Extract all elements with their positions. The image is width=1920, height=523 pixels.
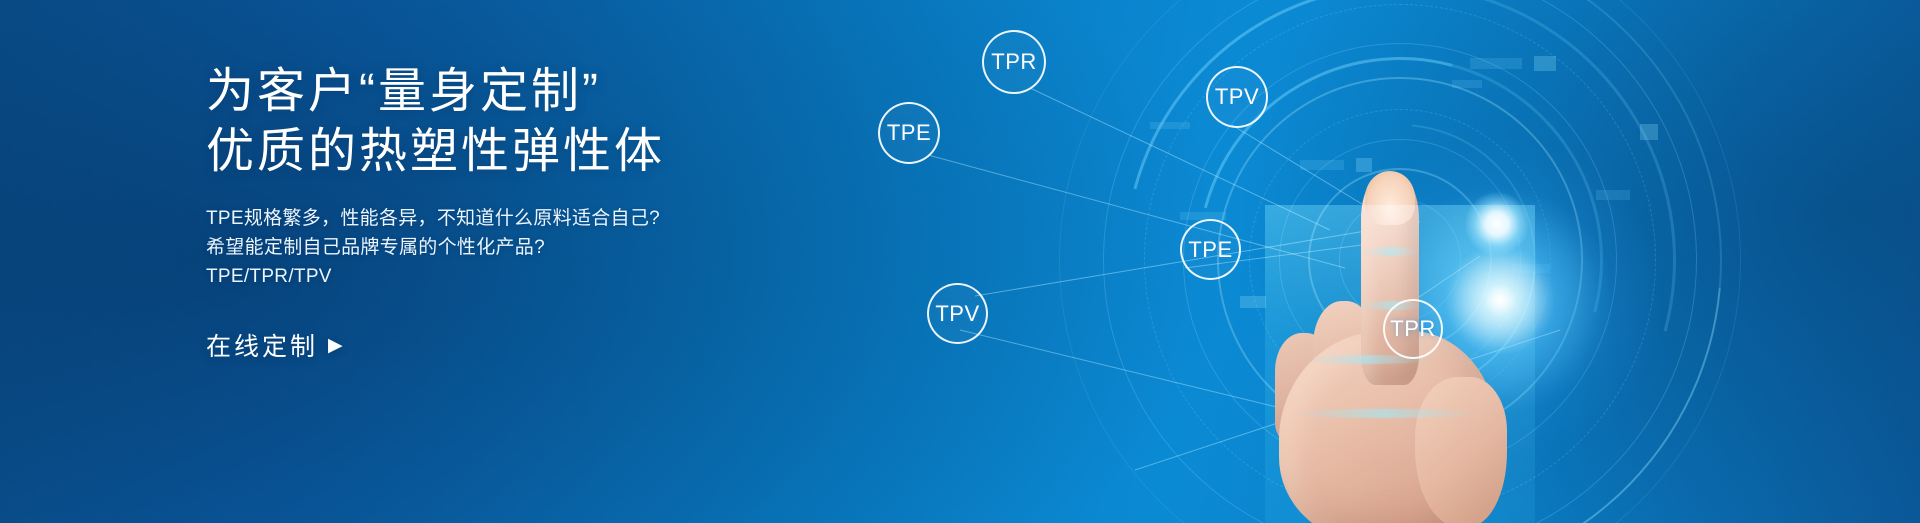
tag-label: TPE: [1188, 237, 1232, 263]
tag-circle-tpe-right[interactable]: TPE: [1180, 219, 1241, 280]
hand-index-fingertip: [1365, 171, 1415, 225]
tag-label: TPV: [1215, 84, 1259, 110]
headline-line-1: 为客户“量身定制”: [206, 62, 846, 122]
play-triangle-icon: ▶: [328, 336, 346, 355]
hero-subtitle: TPE规格繁多，性能各异，不知道什么原料适合自己? 希望能定制自己品牌专属的个性…: [206, 204, 846, 291]
hand-thumb: [1415, 377, 1507, 523]
tag-label: TPR: [1390, 316, 1436, 342]
subtitle-line-2: 希望能定制自己品牌专属的个性化产品?: [206, 233, 846, 262]
tag-circle-tpv-lower-left[interactable]: TPV: [927, 283, 988, 344]
tag-label: TPE: [887, 120, 931, 146]
headline-line-2: 优质的热塑性弹性体: [206, 122, 846, 182]
hand-pointing-image: [1265, 205, 1535, 523]
online-customization-button[interactable]: 在线定制 ▶: [206, 327, 346, 363]
subtitle-line-3: TPE/TPR/TPV: [206, 262, 846, 291]
tag-circle-tpr-top[interactable]: TPR: [982, 30, 1046, 94]
hero-copy: 为客户“量身定制” 优质的热塑性弹性体 TPE规格繁多，性能各异，不知道什么原料…: [206, 62, 846, 363]
tag-label: TPV: [935, 301, 979, 327]
hero-banner: TPR TPV TPE TPE TPV TPR 为客户“量身定制” 优质的热塑性…: [0, 0, 1920, 523]
tag-circle-tpv-upper-right[interactable]: TPV: [1206, 66, 1268, 128]
subtitle-line-1: TPE规格繁多，性能各异，不知道什么原料适合自己?: [206, 204, 846, 233]
cta-label: 在线定制: [206, 327, 318, 363]
tag-circle-tpr-far-right[interactable]: TPR: [1383, 299, 1443, 359]
tag-circle-tpe-left[interactable]: TPE: [878, 102, 940, 164]
tag-label: TPR: [991, 49, 1037, 75]
